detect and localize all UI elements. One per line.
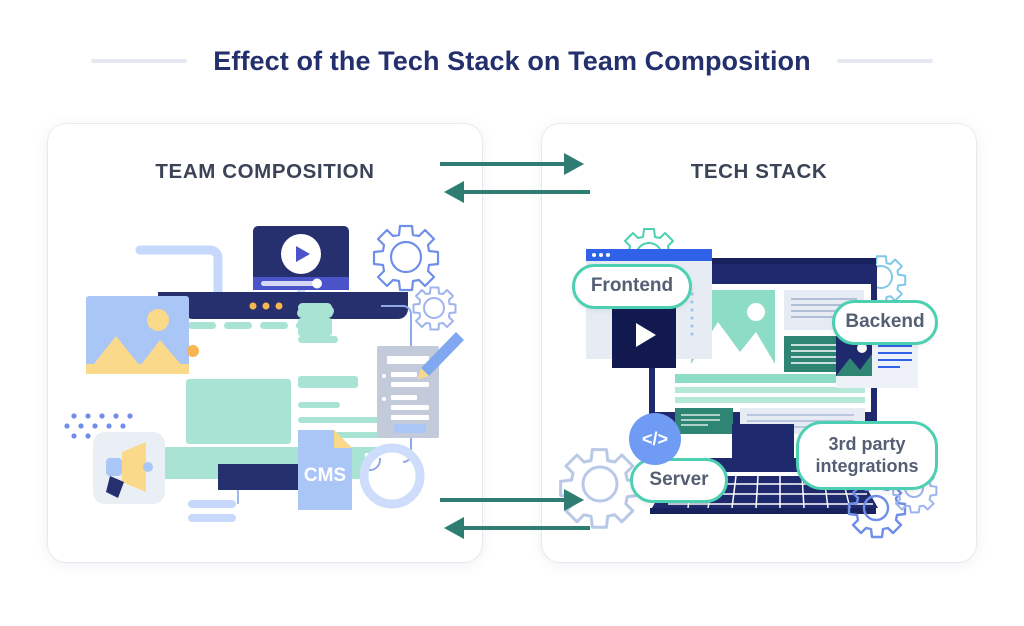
arrow-line-leftward-bottom xyxy=(464,526,590,530)
page-title: Effect of the Tech Stack on Team Composi… xyxy=(213,46,810,77)
label-frontend-text: Frontend xyxy=(591,275,673,297)
label-frontend[interactable]: Frontend xyxy=(572,264,692,309)
label-server[interactable]: Server xyxy=(630,458,728,503)
label-third-party-integrations[interactable]: 3rd party integrations xyxy=(796,421,938,490)
arrow-line-leftward-top xyxy=(464,190,590,194)
cms-label: CMS xyxy=(304,465,346,486)
title-rule-left xyxy=(91,59,187,63)
title-rule-right xyxy=(837,59,933,63)
arrow-head-left-top xyxy=(444,181,464,203)
code-brackets-glyph: </> xyxy=(642,429,668,450)
code-brackets-icon: </> xyxy=(629,413,681,465)
label-third-party-line2: integrations xyxy=(815,456,918,477)
panel-team-composition: TEAM COMPOSITION xyxy=(48,124,482,562)
arrow-pair-top xyxy=(440,148,590,194)
arrow-head-left-bottom xyxy=(444,517,464,539)
arrow-pair-bottom xyxy=(440,484,590,530)
label-backend[interactable]: Backend xyxy=(832,300,938,345)
arrow-line-rightward-bottom xyxy=(440,498,566,502)
arrow-line-rightward-top xyxy=(440,162,566,166)
label-server-text: Server xyxy=(649,469,708,491)
arrow-head-right-top xyxy=(564,153,584,175)
label-backend-text: Backend xyxy=(845,311,924,333)
page-title-row: Effect of the Tech Stack on Team Composi… xyxy=(0,38,1024,84)
team-composition-illustration: CMS xyxy=(48,124,482,562)
label-third-party-line1: 3rd party xyxy=(815,434,918,455)
arrow-head-right-bottom xyxy=(564,489,584,511)
